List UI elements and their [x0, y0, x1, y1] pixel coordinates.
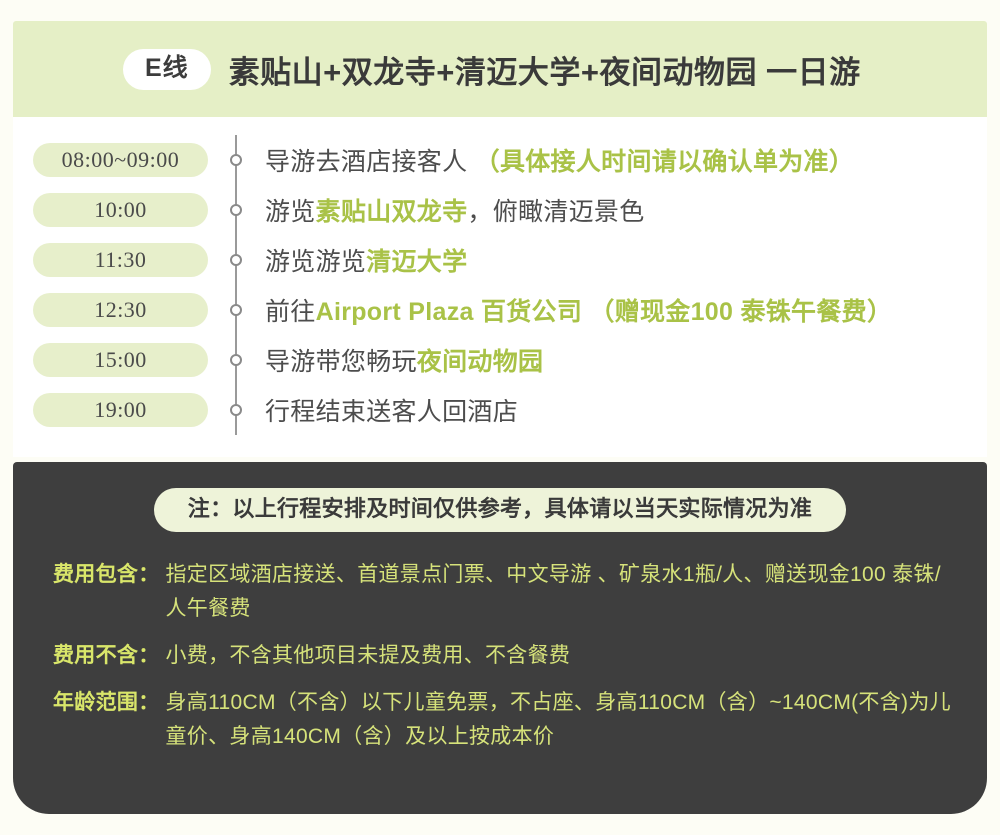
timeline-dot-icon	[230, 304, 242, 316]
row-text-plain: 导游带您畅玩	[265, 348, 417, 376]
itinerary-page: E线 素贴山+双龙寺+清迈大学+夜间动物园 一日游 08:00~09:00 导游…	[0, 0, 1000, 835]
time-badge: 10:00	[33, 193, 208, 227]
info-row: 费用包含： 指定区域酒店接送、首道景点门票、中文导游 、矿泉水1瓶/人、赠送现金…	[53, 558, 957, 626]
row-text-plain: 游览	[265, 198, 316, 226]
info-row: 费用不含： 小费，不含其他项目未提及费用、不含餐费	[53, 639, 957, 673]
timeline-dot-icon	[230, 204, 242, 216]
row-text-highlight: 清迈大学	[366, 248, 467, 276]
info-value: 指定区域酒店接送、首道景点门票、中文导游 、矿泉水1瓶/人、赠送现金100 泰铢…	[160, 558, 958, 626]
disclaimer-note: 注：以上行程安排及时间仅供参考，具体请以当天实际情况为准	[154, 488, 846, 532]
info-label: 年龄范围：	[53, 686, 160, 720]
timeline-row: 12:30 前往Airport Plaza 百货公司 （赠现金100 泰铢午餐费…	[13, 285, 987, 335]
itinerary-card: E线 素贴山+双龙寺+清迈大学+夜间动物园 一日游 08:00~09:00 导游…	[13, 21, 987, 457]
timeline-row: 15:00 导游带您畅玩夜间动物园	[13, 335, 987, 385]
row-text-highlight: 夜间动物园	[417, 348, 544, 376]
footer-panel: 注：以上行程安排及时间仅供参考，具体请以当天实际情况为准 费用包含： 指定区域酒…	[13, 462, 987, 814]
row-text-plain: 前往	[265, 298, 316, 326]
row-text-plain: 导游去酒店接客人	[265, 148, 475, 176]
time-badge: 12:30	[33, 293, 208, 327]
info-label: 费用不含：	[53, 639, 160, 673]
time-badge: 11:30	[33, 243, 208, 277]
row-text-highlight: Airport Plaza 百货公司 （赠现金100 泰铢午餐费）	[316, 298, 893, 326]
timeline-row: 08:00~09:00 导游去酒店接客人 （具体接人时间请以确认单为准）	[13, 135, 987, 185]
time-badge: 19:00	[33, 393, 208, 427]
row-text-highlight: 素贴山双龙寺	[316, 198, 468, 226]
info-row: 年龄范围： 身高110CM（不含）以下儿童免票，不占座、身高110CM（含）~1…	[53, 686, 957, 754]
row-text-tail: ，俯瞰清迈景色	[467, 198, 644, 226]
timeline-row-text: 游览素贴山双龙寺，俯瞰清迈景色	[265, 192, 645, 228]
timeline-dot-icon	[230, 354, 242, 366]
timeline-dot-icon	[230, 154, 242, 166]
time-badge: 08:00~09:00	[33, 143, 208, 177]
time-badge: 15:00	[33, 343, 208, 377]
timeline-dot-icon	[230, 254, 242, 266]
route-badge: E线	[123, 49, 211, 90]
page-title: 素贴山+双龙寺+清迈大学+夜间动物园 一日游	[229, 47, 861, 92]
timeline-row-text: 前往Airport Plaza 百货公司 （赠现金100 泰铢午餐费）	[265, 292, 892, 328]
timeline-dot-icon	[230, 404, 242, 416]
info-value: 身高110CM（不含）以下儿童免票，不占座、身高110CM（含）~140CM(不…	[160, 686, 958, 754]
info-list: 费用包含： 指定区域酒店接送、首道景点门票、中文导游 、矿泉水1瓶/人、赠送现金…	[13, 558, 987, 754]
info-label: 费用包含：	[53, 558, 160, 592]
timeline: 08:00~09:00 导游去酒店接客人 （具体接人时间请以确认单为准） 10:…	[13, 117, 987, 457]
row-text-plain: 行程结束送客人回酒店	[265, 398, 518, 426]
row-text-plain: 游览游览	[265, 248, 366, 276]
timeline-row-text: 导游去酒店接客人 （具体接人时间请以确认单为准）	[265, 142, 854, 178]
timeline-row-text: 导游带您畅玩夜间动物园	[265, 342, 543, 378]
note-wrapper: 注：以上行程安排及时间仅供参考，具体请以当天实际情况为准	[13, 488, 987, 532]
timeline-row: 11:30 游览游览清迈大学	[13, 235, 987, 285]
info-value: 小费，不含其他项目未提及费用、不含餐费	[160, 639, 571, 673]
timeline-row-text: 游览游览清迈大学	[265, 242, 467, 278]
row-text-highlight: （具体接人时间请以确认单为准）	[475, 148, 855, 176]
timeline-row: 10:00 游览素贴山双龙寺，俯瞰清迈景色	[13, 185, 987, 235]
card-header: E线 素贴山+双龙寺+清迈大学+夜间动物园 一日游	[13, 21, 987, 117]
timeline-row: 19:00 行程结束送客人回酒店	[13, 385, 987, 435]
timeline-row-text: 行程结束送客人回酒店	[265, 392, 518, 428]
